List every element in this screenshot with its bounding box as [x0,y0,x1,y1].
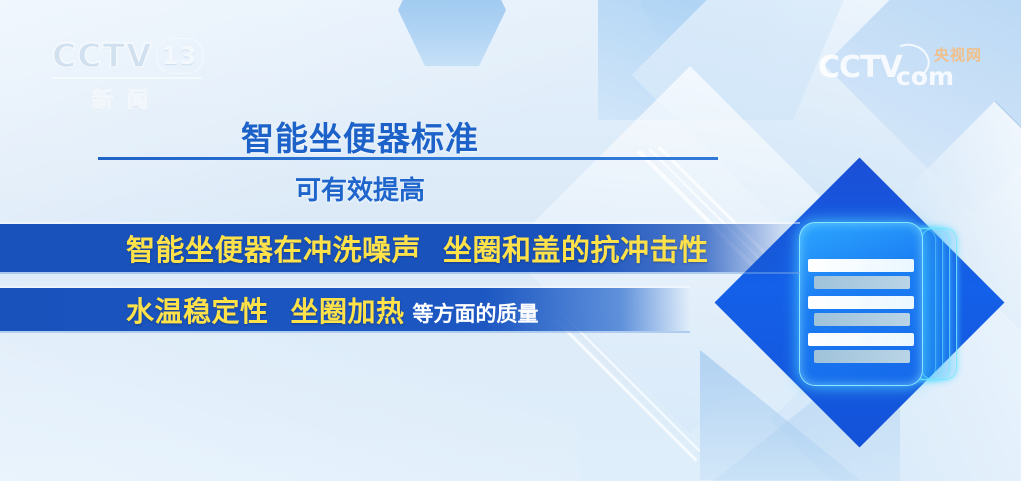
document-line-2 [814,276,910,289]
banner-2-bottom-edge [0,331,690,333]
cctv-13-logo-number: 13 [156,38,204,74]
cctv-com-watermark: CCTV com 央视网 [818,38,998,88]
document-line-6 [814,350,910,363]
document-line-3 [808,296,914,309]
document-standard-icon [795,222,955,390]
document-front-page [799,222,923,386]
document-line-5 [808,333,914,346]
cctv-13-logo-subtext: 新闻 [52,84,202,114]
document-line-4 [814,313,910,326]
page-title: 智能坐便器标准 [0,112,720,160]
watermark-chinese: 央视网 [934,44,982,65]
broadcast-frame: CCTV 13 新闻 CCTV com 央视网 智能坐便器标准 可有效提高 智能… [0,0,1021,481]
banner-2-plain-text: 等方面的质量 [413,298,539,328]
banner-1-highlight-1: 智能坐便器在冲洗噪声 [126,227,421,269]
banner-1-bottom-edge [0,272,800,274]
cctv-13-logo-row: CCTV 13 [52,36,214,75]
watermark-suffix: com [896,62,954,91]
cctv-13-logo-underline [52,77,202,79]
banner-row-2: 水温稳定性 坐圈加热 等方面的质量 [0,288,690,331]
banner-1-highlight-2: 坐圈和盖的抗冲击性 [443,227,709,269]
page-subtitle: 可有效提高 [0,170,720,207]
cctv-13-logo-text: CCTV [52,36,153,75]
banner-2-highlight-2: 坐圈加热 [291,290,405,330]
document-line-1 [808,259,914,272]
banner-2-highlight-1: 水温稳定性 [126,290,269,330]
watermark-brand: CCTV [818,50,902,85]
cctv-13-logo: CCTV 13 新闻 [52,36,214,110]
title-divider [98,157,718,160]
banner-row-1: 智能坐便器在冲洗噪声 坐圈和盖的抗冲击性 [0,224,800,272]
